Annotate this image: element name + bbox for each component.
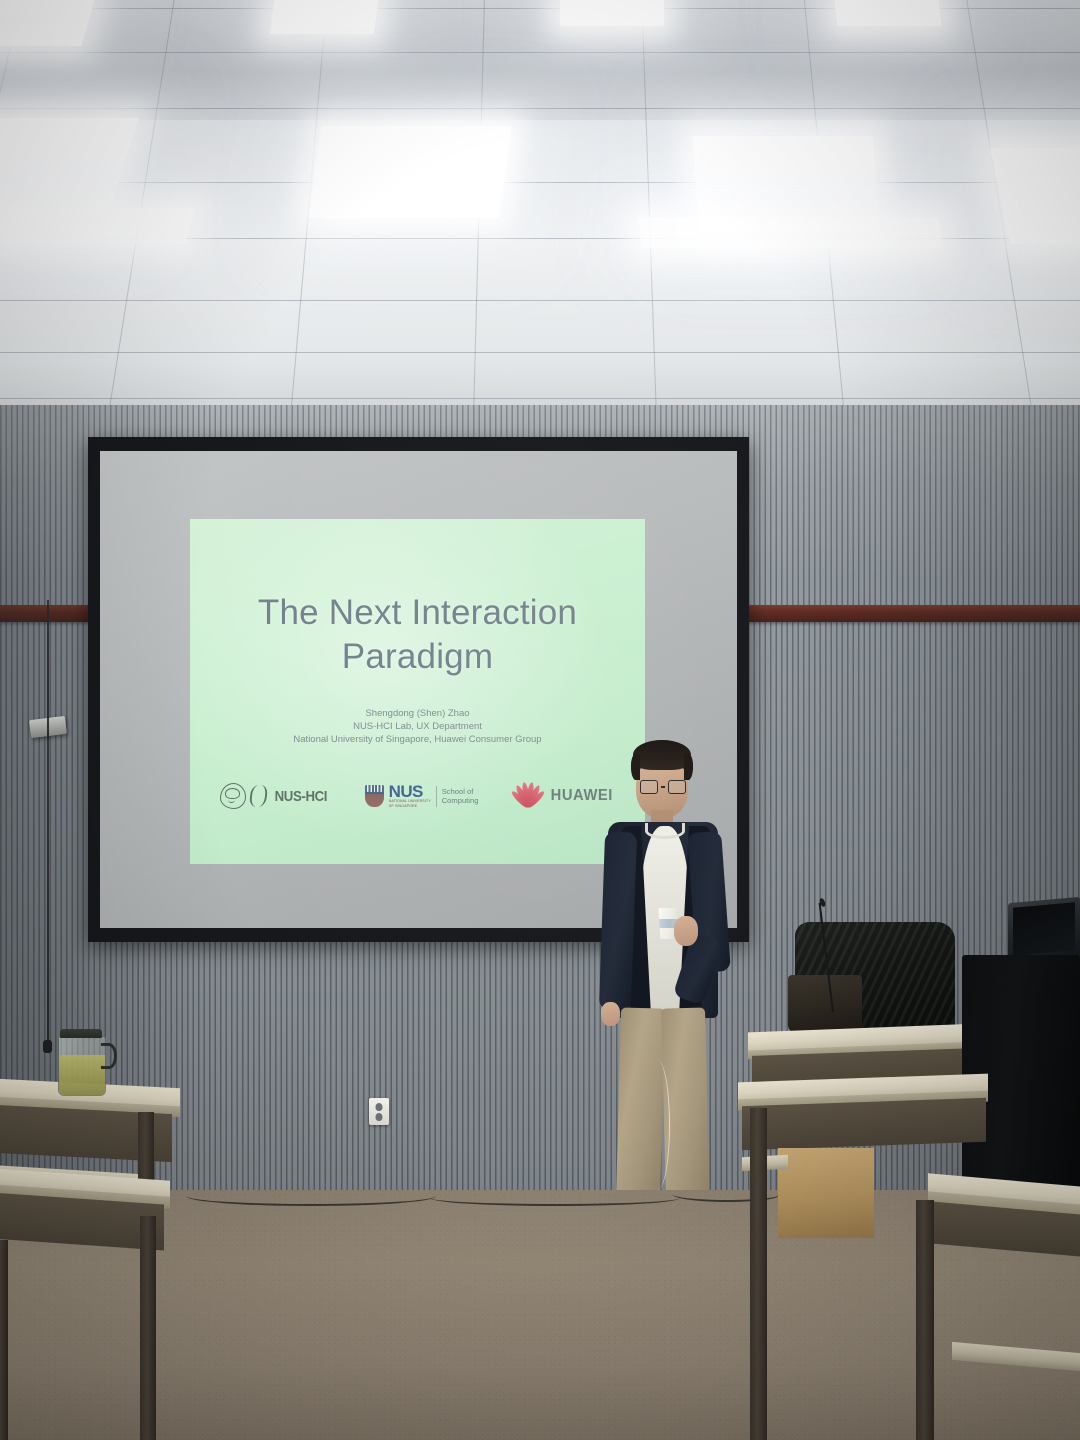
teapot-handle xyxy=(101,1043,117,1069)
speaker-hand-right xyxy=(674,916,698,946)
foreground-desk-right-apron xyxy=(742,1098,986,1151)
foreground-desk-left-leg-2 xyxy=(0,1240,8,1440)
ceiling-light xyxy=(0,118,139,210)
foreground-desk-right-leg xyxy=(750,1108,767,1440)
glasses-bridge xyxy=(661,786,665,787)
logo-nus-tagline-2: OF SINGAPORE xyxy=(389,804,431,808)
glasses-lens-left xyxy=(640,780,658,794)
under-desk-cabinet xyxy=(778,1148,874,1238)
teapot-lid xyxy=(60,1029,102,1038)
power-outlet[interactable] xyxy=(369,1098,389,1125)
ceiling-light xyxy=(270,0,378,34)
slide-title-line-2: Paradigm xyxy=(190,635,645,679)
lectern xyxy=(962,955,1080,1190)
bracket-icon xyxy=(249,785,269,807)
glasses-lens-right xyxy=(668,780,686,794)
thin-white-cable xyxy=(645,1060,670,1190)
hanging-cable xyxy=(47,736,49,1046)
laptop-bag xyxy=(788,975,862,1033)
ceiling-light xyxy=(638,218,942,248)
cable-plug xyxy=(43,1040,52,1053)
floor-cable xyxy=(186,1186,436,1206)
glass-teapot xyxy=(58,1036,106,1096)
ceiling-light xyxy=(560,0,664,26)
speaker-arm-left xyxy=(599,831,637,1010)
foreground-desk-farright-leg xyxy=(916,1200,934,1440)
slide-title-line-1: The Next Interaction xyxy=(190,591,645,635)
logo-nus-label: NUS xyxy=(389,784,431,799)
speaker-glasses xyxy=(640,780,686,794)
ceiling-light xyxy=(0,208,195,244)
ceiling-light xyxy=(309,126,512,218)
logo-nus-school-line-1: School of xyxy=(442,787,479,796)
speaker-hair-top xyxy=(633,740,691,770)
slide-title: The Next Interaction Paradigm xyxy=(190,591,645,679)
speaker-tshirt-collar xyxy=(645,823,685,839)
logo-nus-hci-label: NUS-HCI xyxy=(275,788,328,805)
logo-nus-school-line-2: Computing xyxy=(442,796,479,805)
logo-nus-school-of-computing: NUS NATIONAL UNIVERSITY OF SINGAPORE Sch… xyxy=(365,784,479,808)
ceiling-light xyxy=(835,0,942,26)
logo-divider xyxy=(436,786,437,807)
floor-cable xyxy=(430,1190,680,1206)
slide-presenter-name: Shengdong (Shen) Zhao xyxy=(190,707,645,720)
brain-head-icon xyxy=(220,783,246,809)
lecture-hall-photo: The Next Interaction Paradigm Shengdong … xyxy=(0,0,1080,1440)
tea-liquid xyxy=(59,1055,105,1095)
foreground-desk-left-leg xyxy=(140,1216,156,1440)
ceiling xyxy=(0,0,1080,440)
slide-affiliation-1: NUS-HCI Lab, UX Department xyxy=(190,720,645,733)
ceiling-light xyxy=(0,0,95,46)
speaker-hand-left xyxy=(601,1002,620,1026)
nus-crest-icon xyxy=(365,785,384,807)
hanging-cable xyxy=(47,600,49,740)
logo-nus-hci: NUS-HCI xyxy=(220,783,331,809)
huawei-petals-icon xyxy=(512,784,544,808)
